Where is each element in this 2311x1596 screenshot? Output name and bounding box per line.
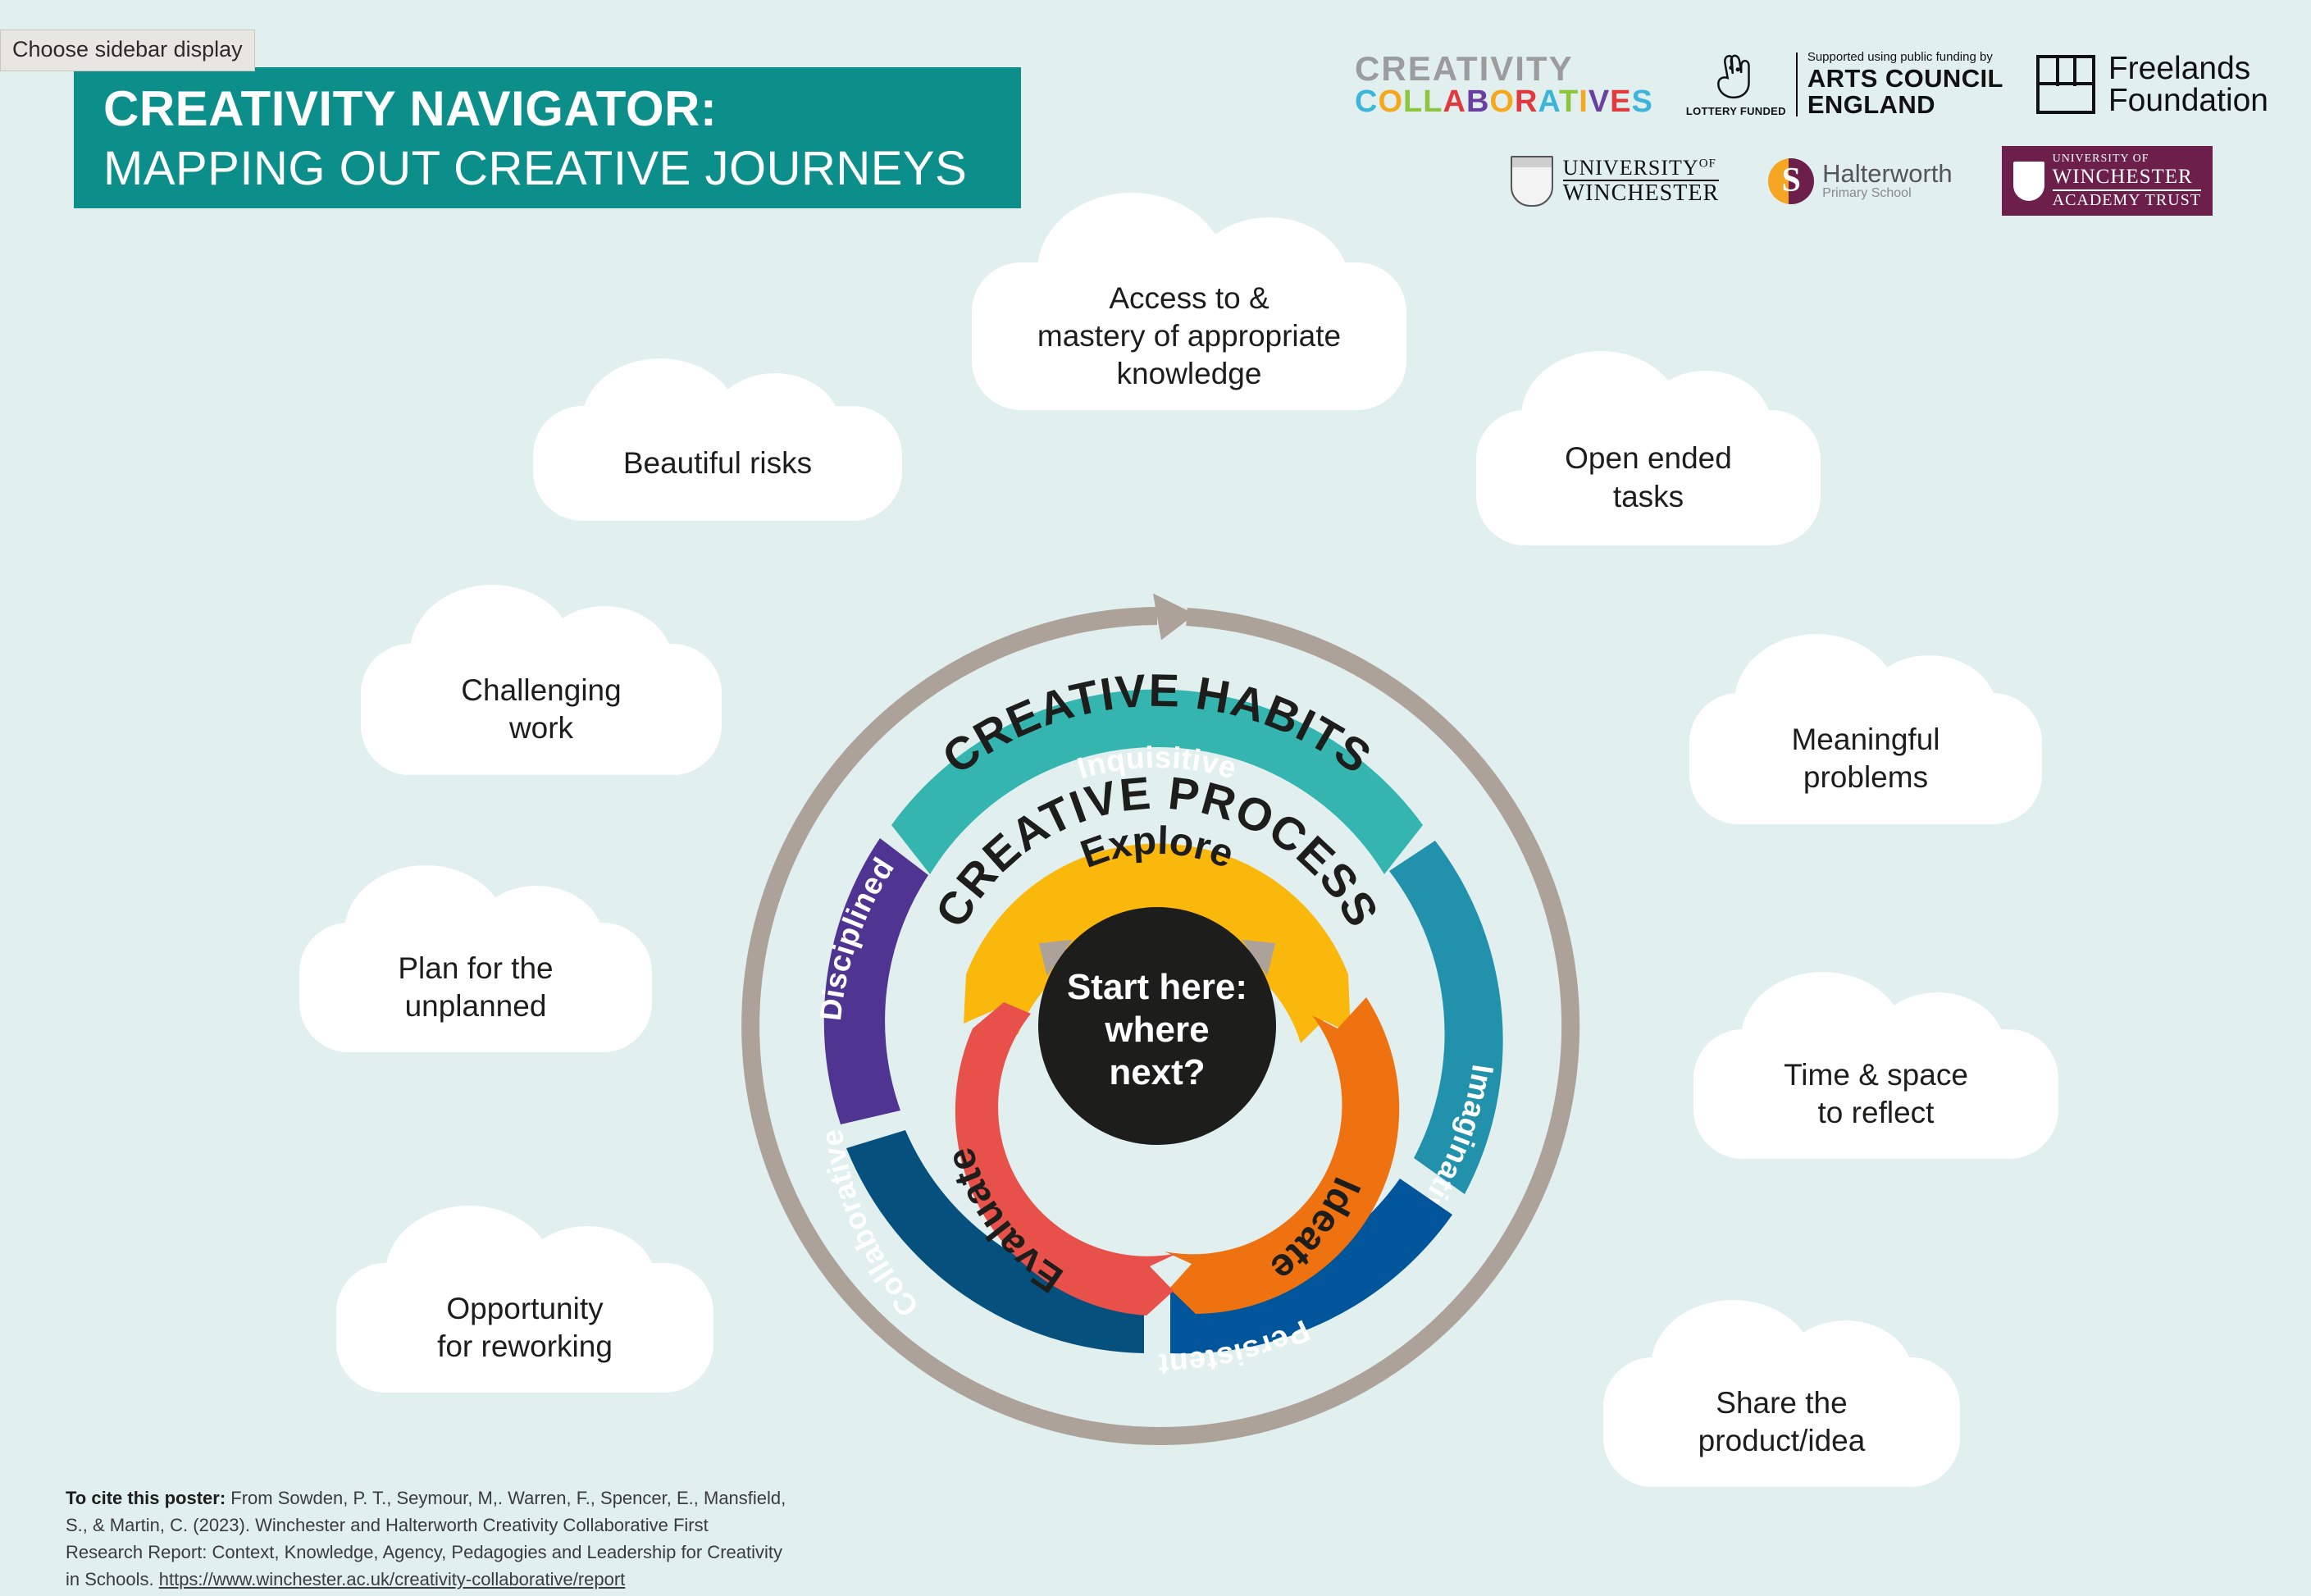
cloud-label: Meaningfulproblems <box>1791 721 1940 797</box>
center-line-1: Start here: <box>1067 967 1247 1007</box>
cloud-meaningful-problems: Meaningfulproblems <box>1689 693 2042 824</box>
center-line-3: next? <box>1109 1052 1205 1092</box>
lottery-funded-label: LOTTERY FUNDED <box>1686 105 1786 117</box>
uow-university-word: UNIVERSITY <box>1563 156 1699 180</box>
freelands-mark-icon <box>2036 55 2095 114</box>
halterworth-mark-icon <box>1768 158 1814 204</box>
cc-logo-line2: COLLABORATIVES <box>1355 86 1653 117</box>
freelands-line2: Foundation <box>2108 84 2268 116</box>
halterworth-primary-school-logo: Halterworth Primary School <box>1768 158 1953 204</box>
cloud-label: Challengingwork <box>461 672 621 748</box>
cloud-label: Open endedtasks <box>1565 440 1732 516</box>
uow-line1: UNIVERSITYOF <box>1563 157 1719 181</box>
freelands-foundation-logo: Freelands Foundation <box>2036 52 2268 116</box>
uow-text: UNIVERSITYOF WINCHESTER <box>1563 157 1719 206</box>
ace-text-block: Supported using public funding by ARTS C… <box>1807 51 2003 118</box>
ace-name-line2: ENGLAND <box>1807 92 2003 118</box>
wat-line3: ACADEMY TRUST <box>2053 191 2201 209</box>
uow-line2: WINCHESTER <box>1563 181 1719 205</box>
wat-line2: WINCHESTER <box>2053 166 2201 191</box>
habit-segment-imaginative[interactable]: Imaginative <box>1389 841 1503 1236</box>
creativity-navigator-wheel: Inquisitive Imaginative Persistent Colla… <box>645 513 1670 1539</box>
citation-link[interactable]: https://www.winchester.ac.uk/creativity-… <box>159 1569 626 1589</box>
cc-logo-line1: CREATIVITY <box>1355 52 1653 86</box>
cloud-time-space-reflect: Time & spaceto reflect <box>1693 1029 2058 1159</box>
university-of-winchester-logo: UNIVERSITYOF WINCHESTER <box>1511 156 1719 207</box>
page-title: CREATIVITY NAVIGATOR: <box>103 80 717 137</box>
ace-divider <box>1796 52 1798 116</box>
logo-row-secondary: UNIVERSITYOF WINCHESTER Halterworth Prim… <box>1511 146 2213 216</box>
winchester-academy-trust-logo: UNIVERSITY OF WINCHESTER ACADEMY TRUST <box>2002 146 2213 216</box>
freelands-line1: Freelands <box>2108 52 2268 84</box>
halterworth-line1: Halterworth <box>1822 161 1953 188</box>
sidebar-display-tooltip: Choose sidebar display <box>0 30 255 71</box>
cloud-label: Opportunityfor reworking <box>437 1290 613 1366</box>
cloud-access-knowledge: Access to &mastery of appropriateknowled… <box>972 262 1406 410</box>
cloud-beautiful-risks: Beautiful risks <box>533 406 902 521</box>
freelands-text: Freelands Foundation <box>2108 52 2268 116</box>
wat-text: UNIVERSITY OF WINCHESTER ACADEMY TRUST <box>2053 153 2201 209</box>
uow-of-word: OF <box>1699 157 1716 170</box>
winchester-crest-icon <box>1511 156 1553 207</box>
citation-lead: To cite this poster: <box>66 1488 226 1508</box>
wat-crest-icon <box>2013 162 2044 201</box>
creativity-collaboratives-logo: CREATIVITY COLLABORATIVES <box>1355 52 1653 117</box>
cloud-label: Time & spaceto reflect <box>1784 1056 1968 1133</box>
ace-supported-label: Supported using public funding by <box>1807 51 2003 63</box>
halterworth-line2: Primary School <box>1822 187 1953 201</box>
start-here-center[interactable]: Start here: where next? <box>1038 907 1276 1145</box>
ace-name-line1: ARTS COUNCIL <box>1807 66 2003 92</box>
cloud-label: Beautiful risks <box>623 445 812 482</box>
crossed-fingers-icon <box>1711 51 1762 102</box>
poster-title-block: CREATIVITY NAVIGATOR: MAPPING OUT CREATI… <box>74 67 1021 208</box>
lottery-funded-block: LOTTERY FUNDED <box>1686 51 1786 117</box>
wat-line1: UNIVERSITY OF <box>2053 153 2201 166</box>
logo-row-primary: CREATIVITY COLLABORATIVES LOTTERY FUNDED… <box>1355 51 2268 118</box>
page-subtitle: MAPPING OUT CREATIVE JOURNEYS <box>103 141 967 196</box>
halterworth-text: Halterworth Primary School <box>1822 161 1953 201</box>
cloud-label: Access to &mastery of appropriateknowled… <box>1037 280 1341 394</box>
habit-segment-disciplined[interactable]: Disciplined <box>814 838 928 1124</box>
cloud-plan-unplanned: Plan for theunplanned <box>299 923 652 1052</box>
cloud-label: Share theproduct/idea <box>1698 1384 1866 1461</box>
cloud-label: Plan for theunplanned <box>398 950 553 1026</box>
center-line-2: where <box>1104 1010 1209 1050</box>
arts-council-england-logo: LOTTERY FUNDED Supported using public fu… <box>1686 51 2003 118</box>
citation-block: To cite this poster: From Sowden, P. T.,… <box>66 1484 787 1593</box>
